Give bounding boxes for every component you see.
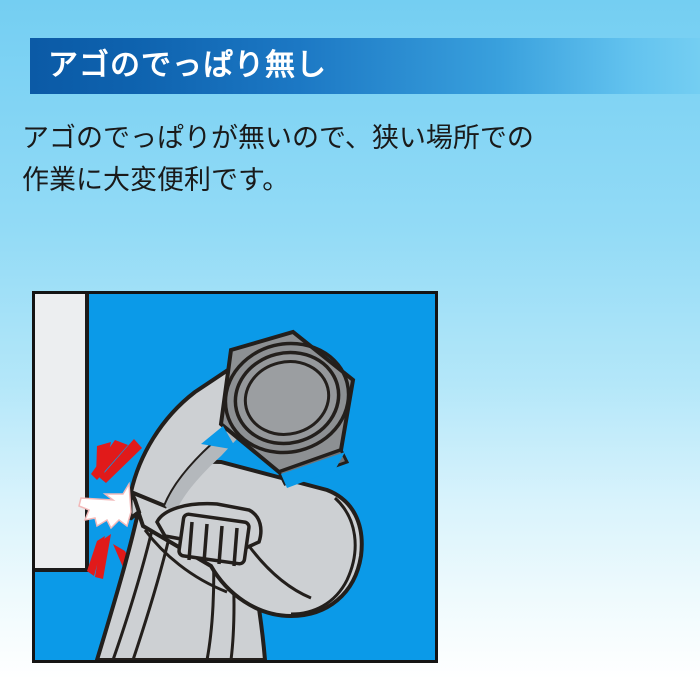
body-line-1: アゴのでっぱりが無いので、狭い場所での bbox=[22, 118, 662, 160]
body-description: アゴのでっぱりが無いので、狭い場所での 作業に大変便利です。 bbox=[22, 118, 662, 202]
wrench-illustration bbox=[35, 294, 435, 660]
page-title: アゴのでっぱり無し bbox=[48, 51, 327, 81]
illustration-frame bbox=[32, 291, 438, 663]
header-banner: アゴのでっぱり無し bbox=[30, 38, 700, 94]
wall bbox=[35, 294, 87, 570]
body-line-2: 作業に大変便利です。 bbox=[22, 160, 662, 202]
page-root: アゴのでっぱり無し アゴのでっぱりが無いので、狭い場所での 作業に大変便利です。 bbox=[0, 0, 700, 700]
wall-block bbox=[35, 294, 87, 570]
